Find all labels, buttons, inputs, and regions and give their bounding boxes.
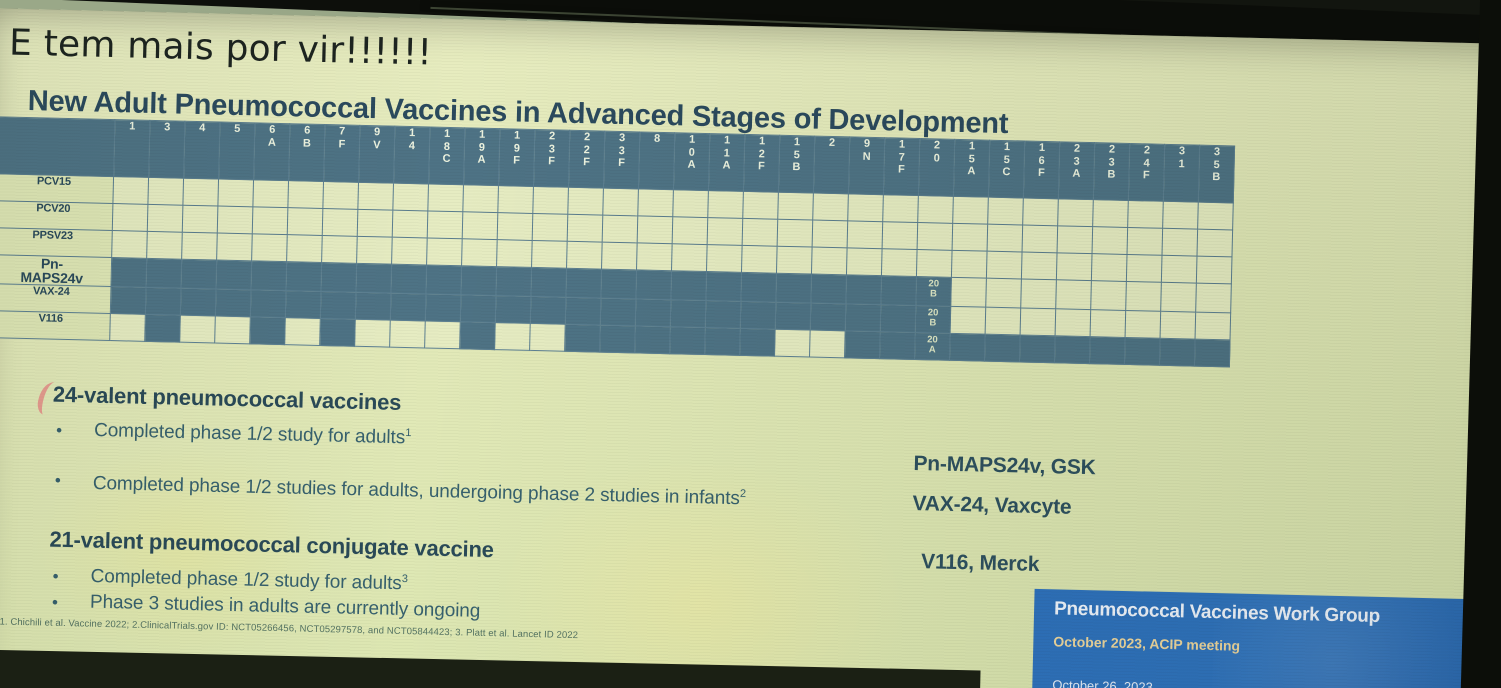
cell-VAX-24-20: 20B	[915, 305, 951, 333]
coverage-grid: 13456A6B7F9V1418C19A19F23F22F33F810A11A1…	[0, 116, 1235, 367]
column-header-19F: 19F	[498, 129, 534, 187]
cell-PCV15-4	[183, 178, 219, 206]
cell-PCV20-16F	[1022, 225, 1058, 253]
cell-Pn-MAPS24v-14	[391, 264, 427, 294]
cell-Pn-MAPS24v-8	[636, 270, 672, 300]
column-header-23A: 23A	[1058, 142, 1094, 200]
cell-PCV20-1	[112, 204, 148, 232]
cell-PCV15-15A	[953, 196, 989, 224]
cell-V116-9N	[844, 331, 880, 359]
cell-PCV20-6B	[287, 208, 323, 236]
cell-Pn-MAPS24v-19F	[496, 267, 532, 297]
column-header-23B: 23B	[1093, 143, 1129, 201]
cell-PCV15-3	[148, 177, 184, 205]
cell-V116-7F	[320, 318, 356, 346]
column-header-16F: 16F	[1023, 141, 1059, 199]
cell-PCV20-24F	[1127, 227, 1163, 255]
cell-VAX-24-22F	[565, 297, 601, 325]
projected-slide: E tem mais por vir!!!!!! New Adult Pneum…	[0, 8, 1501, 688]
cell-Pn-MAPS24v-10A	[671, 271, 707, 301]
cell-Pn-MAPS24v-15B	[776, 273, 812, 303]
cell-VAX-24-6A	[250, 290, 286, 318]
cell-PCV20-33F	[602, 215, 638, 243]
cell-PCV20-14	[392, 210, 428, 238]
cell-VAX-24-12F	[740, 301, 776, 329]
cell-V116-18C	[425, 321, 461, 349]
cell-V116-6A	[250, 317, 286, 345]
cell-PCV20-8	[637, 216, 673, 244]
cell-PPSV23-7F	[322, 235, 358, 263]
cell-Pn-MAPS24v-24F	[1126, 281, 1162, 311]
cell-V116-10A	[670, 327, 706, 355]
bullet-superscript: 3	[402, 573, 408, 585]
cell-PPSV23-31	[1161, 255, 1197, 283]
row-label-ppsv23: PPSV23	[0, 228, 112, 258]
cell-PCV15-9N	[848, 194, 884, 222]
cell-V116-16F	[1019, 335, 1055, 363]
cell-annotation: 20B	[916, 277, 951, 300]
cell-PCV15-23F	[533, 186, 569, 214]
cell-PCV15-33F	[603, 188, 639, 216]
cell-V116-23B	[1089, 337, 1125, 365]
cell-V116-6B	[285, 318, 321, 346]
cell-PCV20-23B	[1092, 227, 1128, 255]
cell-PCV15-24F	[1128, 200, 1164, 228]
cell-V116-5	[215, 316, 251, 344]
cell-PCV15-19F	[498, 186, 534, 214]
row-label-vax-24: VAX-​24	[0, 284, 111, 314]
right-label-pn-maps24v: Pn-MAPS24v, GSK	[913, 452, 1096, 480]
column-header-17F: 17F	[883, 138, 919, 196]
cell-PCV20-3	[147, 204, 183, 232]
cell-VAX-24-7F	[320, 291, 356, 319]
cell-V116-4	[180, 315, 216, 343]
cell-V116-24F	[1124, 337, 1160, 365]
bullet-dot-icon: •	[55, 468, 61, 493]
cell-V116-12F	[740, 328, 776, 356]
cell-VAX-24-1	[110, 287, 146, 315]
column-header-15A: 15A	[953, 139, 989, 197]
cell-VAX-24-23A	[1055, 309, 1091, 337]
column-header-14: 14	[393, 126, 429, 184]
cell-Pn-MAPS24v-2	[811, 274, 847, 304]
cell-PPSV23-23A	[1056, 253, 1092, 281]
cell-PCV15-23B	[1093, 200, 1129, 228]
cell-VAX-24-6B	[285, 291, 321, 319]
cell-PCV20-9V	[357, 209, 393, 237]
cell-V116-31	[1159, 338, 1195, 366]
cell-PPSV23-3	[147, 231, 183, 259]
cell-V116-23A	[1054, 336, 1090, 364]
cell-VAX-24-14	[390, 293, 426, 321]
row-label-v116: V116	[0, 311, 110, 341]
column-header-7F: 7F	[324, 125, 360, 183]
cell-PCV15-20	[918, 196, 954, 224]
cell-PPSV23-6A	[252, 234, 288, 262]
cell-Pn-MAPS24v-22F	[566, 268, 602, 298]
cell-Pn-MAPS24v-1	[111, 258, 147, 288]
cell-PCV20-15A	[952, 223, 988, 251]
cell-PPSV23-12F	[741, 245, 777, 273]
column-header-3: 3	[149, 120, 185, 178]
bullet-superscript: 1	[405, 427, 411, 439]
cell-VAX-24-15A	[950, 306, 986, 334]
column-header-22F: 22F	[568, 130, 604, 188]
cell-PCV20-17F	[882, 222, 918, 250]
cell-PCV20-31	[1162, 228, 1198, 256]
cell-PPSV23-11A	[706, 245, 742, 273]
column-header-15C: 15C	[988, 140, 1024, 198]
panel-subtitle: October 2023, ACIP meeting	[1053, 633, 1240, 653]
cell-PPSV23-14	[392, 237, 428, 265]
cell-Pn-MAPS24v-23A	[1056, 280, 1092, 310]
cell-Pn-MAPS24v-15A	[951, 277, 987, 307]
cell-Pn-MAPS24v-11A	[706, 272, 742, 302]
row-label-pcv15: PCV15	[0, 174, 114, 204]
cell-VAX-24-8	[635, 299, 671, 327]
cell-PPSV23-5	[217, 233, 253, 261]
bullet-superscript: 2	[740, 488, 746, 500]
column-header-2: 2	[813, 136, 849, 194]
cell-PPSV23-35B	[1196, 256, 1232, 284]
cell-Pn-MAPS24v-4	[181, 259, 217, 289]
cell-VAX-24-9V	[355, 292, 391, 320]
column-header-1: 1	[114, 120, 150, 178]
cell-PCV15-35B	[1198, 202, 1234, 230]
column-header-4: 4	[184, 121, 220, 179]
cell-V116-2	[810, 330, 846, 358]
column-header-9V: 9V	[358, 125, 394, 183]
cell-PPSV23-4	[182, 232, 218, 260]
column-header-19A: 19A	[463, 128, 499, 186]
cell-VAX-24-4	[180, 288, 216, 316]
column-header-15B: 15B	[778, 135, 814, 193]
cell-VAX-24-2	[810, 303, 846, 331]
cell-V116-1	[110, 314, 146, 342]
cell-Pn-MAPS24v-9N	[846, 275, 882, 305]
grid-body: PCV15PCV20PPSV23Pn-MAPS24v20BVAX-​2420BV…	[0, 174, 1233, 367]
cell-PPSV23-8	[637, 243, 673, 271]
cell-V116-15C	[984, 334, 1020, 362]
cell-PCV15-16F	[1023, 198, 1059, 226]
panel-date: October 26, 2023	[1052, 677, 1153, 688]
cell-PCV15-17F	[883, 195, 919, 223]
cell-V116-19A	[460, 322, 496, 350]
cell-VAX-24-19F	[495, 296, 531, 324]
cell-PCV15-19A	[463, 185, 499, 213]
cell-PCV20-19F	[497, 213, 533, 241]
cell-V116-35B	[1194, 339, 1230, 367]
cell-PCV20-35B	[1197, 229, 1233, 257]
cell-VAX-24-35B	[1195, 312, 1231, 340]
cell-V116-19F	[495, 323, 531, 351]
cell-V116-15B	[775, 329, 811, 357]
cell-PCV15-6A	[253, 180, 289, 208]
cell-VAX-24-9N	[845, 304, 881, 332]
cell-PCV20-18C	[427, 211, 463, 239]
cell-V116-22F	[565, 324, 601, 352]
cell-PPSV23-19A	[462, 239, 498, 267]
row-label-pcv20: PCV20	[0, 201, 113, 231]
cell-PCV15-2	[813, 193, 849, 221]
cell-PCV20-19A	[462, 212, 498, 240]
cell-V116-15A	[949, 333, 985, 361]
column-header-10A: 10A	[673, 133, 709, 191]
cell-PPSV23-19F	[497, 240, 533, 268]
cell-VAX-24-18C	[425, 294, 461, 322]
cell-V116-9V	[355, 319, 391, 347]
cell-Pn-MAPS24v-19A	[461, 266, 497, 296]
cell-VAX-24-17F	[880, 305, 916, 333]
cell-PCV15-22F	[568, 187, 604, 215]
cell-PCV15-1	[113, 177, 149, 205]
cell-PCV20-11A	[707, 218, 743, 246]
column-header-5: 5	[219, 122, 255, 180]
cell-PCV20-23A	[1057, 226, 1093, 254]
column-header-23F: 23F	[533, 129, 569, 187]
cell-PCV20-5	[217, 206, 253, 234]
cell-VAX-24-15B	[775, 302, 811, 330]
section-1-heading: 24-valent pneumococcal vaccines	[53, 382, 402, 416]
cell-V116-14	[390, 320, 426, 348]
cell-Pn-MAPS24v-18C	[426, 265, 462, 295]
column-header-24F: 24F	[1128, 143, 1164, 201]
cell-V116-20: 20A	[914, 332, 950, 360]
cell-PPSV23-15C	[986, 251, 1022, 279]
work-group-footer-panel: Pneumococcal Vaccines Work Group October…	[1031, 589, 1501, 688]
cell-Pn-MAPS24v-20: 20B	[916, 276, 952, 306]
cell-PCV15-10A	[673, 190, 709, 218]
cell-PCV20-22F	[567, 214, 603, 242]
cell-PCV15-23A	[1058, 199, 1094, 227]
serotype-coverage-table: 13456A6B7F9V1418C19A19F23F22F33F810A11A1…	[0, 116, 1235, 367]
cell-VAX-24-23B	[1090, 310, 1126, 338]
column-header-31: 31	[1163, 144, 1199, 202]
cell-Pn-MAPS24v-16F	[1021, 279, 1057, 309]
cell-PCV15-31	[1163, 201, 1199, 229]
column-header-12F: 12F	[743, 134, 779, 192]
cell-Pn-MAPS24v-12F	[741, 272, 777, 302]
cell-V116-8	[635, 326, 671, 354]
right-label-v116: V116, Merck	[921, 550, 1040, 577]
column-header-6B: 6B	[289, 124, 325, 182]
column-header-9N: 9N	[848, 137, 884, 195]
bullet-dot-icon: •	[56, 421, 62, 441]
cell-PCV15-12F	[743, 191, 779, 219]
column-header-6A: 6A	[254, 123, 290, 181]
cell-VAX-24-24F	[1125, 310, 1161, 338]
cell-VAX-24-11A	[705, 301, 741, 329]
cell-Pn-MAPS24v-3	[146, 258, 182, 288]
column-header-35B: 35B	[1198, 145, 1234, 203]
cell-Pn-MAPS24v-33F	[601, 269, 637, 299]
cell-PPSV23-33F	[602, 242, 638, 270]
cell-PPSV23-20	[916, 250, 952, 278]
cell-PCV15-9V	[358, 182, 394, 210]
cell-PPSV23-22F	[567, 241, 603, 269]
cell-PCV20-23F	[532, 213, 568, 241]
cell-Pn-MAPS24v-35B	[1196, 283, 1232, 313]
cell-PCV15-6B	[288, 181, 324, 209]
cell-V116-11A	[705, 328, 741, 356]
cell-VAX-24-10A	[670, 300, 706, 328]
cell-VAX-24-5	[215, 289, 251, 317]
cell-VAX-24-15C	[985, 307, 1021, 335]
cell-PCV20-2	[812, 220, 848, 248]
column-header-11A: 11A	[708, 134, 744, 192]
cell-Pn-MAPS24v-15C	[986, 278, 1022, 308]
cell-PCV15-14	[393, 183, 429, 211]
cell-PCV20-20	[917, 223, 953, 251]
cell-PPSV23-18C	[427, 238, 463, 266]
cell-V116-33F	[600, 325, 636, 353]
cell-PCV20-15B	[777, 219, 813, 247]
column-header-18C: 18C	[428, 127, 464, 185]
cell-PPSV23-16F	[1021, 252, 1057, 280]
bullet-dot-icon: •	[52, 593, 58, 613]
cell-PCV20-6A	[252, 207, 288, 235]
bullet-dot-icon: •	[52, 567, 58, 587]
cell-PPSV23-10A	[672, 244, 708, 272]
cell-PPSV23-1	[112, 231, 148, 259]
cell-PCV20-15C	[987, 224, 1023, 252]
cell-PCV20-9N	[847, 221, 883, 249]
cell-PPSV23-17F	[881, 249, 917, 277]
column-header-8: 8	[638, 132, 674, 190]
cell-annotation: 20A	[915, 333, 950, 356]
cell-Pn-MAPS24v-5	[216, 260, 252, 290]
cell-PPSV23-2	[811, 247, 847, 275]
cell-PPSV23-6B	[287, 235, 323, 263]
column-header-20: 20	[918, 139, 954, 197]
cell-Pn-MAPS24v-6A	[251, 261, 287, 291]
screenshot-root: E tem mais por vir!!!!!! New Adult Pneum…	[0, 0, 1501, 688]
row-label-pn-maps24v: Pn-MAPS24v	[0, 255, 112, 287]
cell-PPSV23-9N	[846, 248, 882, 276]
right-label-vax-24: VAX-24, Vaxcyte	[912, 492, 1071, 520]
cell-VAX-24-31	[1160, 311, 1196, 339]
cell-Pn-MAPS24v-9V	[356, 263, 392, 293]
cell-PCV20-4	[182, 205, 218, 233]
cell-PPSV23-23F	[532, 240, 568, 268]
cell-Pn-MAPS24v-31	[1161, 282, 1197, 312]
cell-PCV15-11A	[708, 191, 744, 219]
cell-VAX-24-23F	[530, 296, 566, 324]
cell-Pn-MAPS24v-17F	[881, 276, 917, 306]
cell-PCV20-7F	[322, 208, 358, 236]
cell-annotation: 20B	[916, 306, 951, 329]
cell-PPSV23-24F	[1126, 254, 1162, 282]
column-header-33F: 33F	[603, 131, 639, 189]
cell-PPSV23-15A	[951, 250, 987, 278]
cell-PCV15-15C	[988, 197, 1024, 225]
cell-V116-17F	[879, 332, 915, 360]
cell-Pn-MAPS24v-7F	[321, 262, 357, 292]
cell-PCV15-5	[218, 179, 254, 207]
top-annotation-text: E tem mais por vir!!!!!!	[9, 23, 433, 74]
cell-V116-23F	[530, 323, 566, 351]
cell-VAX-24-33F	[600, 298, 636, 326]
cell-PCV15-15B	[778, 192, 814, 220]
cell-PCV15-7F	[323, 181, 359, 209]
cell-VAX-24-19A	[460, 295, 496, 323]
cell-PPSV23-15B	[776, 246, 812, 274]
cell-PPSV23-9V	[357, 236, 393, 264]
grid-corner-cell	[0, 117, 115, 177]
cell-PPSV23-23B	[1091, 254, 1127, 282]
cell-PCV15-8	[638, 189, 674, 217]
cell-VAX-24-16F	[1020, 308, 1056, 336]
cell-PCV20-12F	[742, 218, 778, 246]
cell-PCV15-18C	[428, 184, 464, 212]
cell-VAX-24-3	[145, 287, 181, 315]
cell-PCV20-10A	[672, 217, 708, 245]
cell-V116-3	[145, 314, 181, 342]
cell-Pn-MAPS24v-6B	[286, 262, 322, 292]
cell-Pn-MAPS24v-23F	[531, 267, 567, 297]
cell-Pn-MAPS24v-23B	[1091, 281, 1127, 311]
